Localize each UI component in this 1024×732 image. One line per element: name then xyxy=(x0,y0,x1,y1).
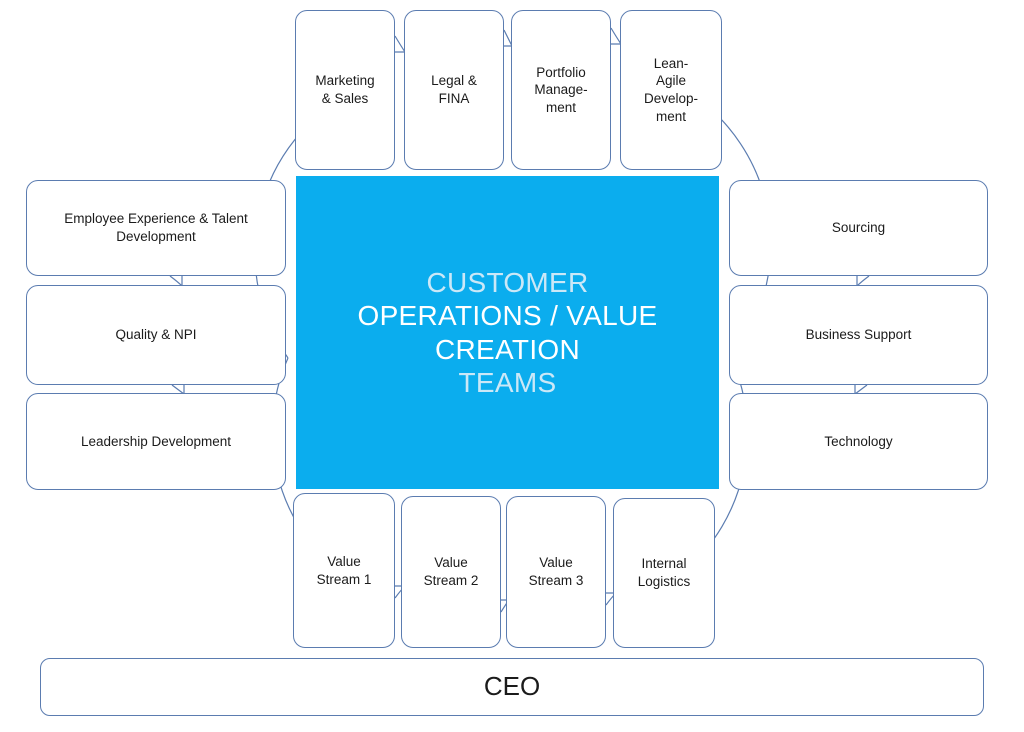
node-quality-and-npi[interactable]: Quality & NPI xyxy=(26,285,286,385)
node-value-stream-2[interactable]: Value Stream 2 xyxy=(401,496,501,648)
node-label: Employee Experience & Talent Development xyxy=(58,210,254,245)
node-label: Quality & NPI xyxy=(109,326,202,344)
diagram-canvas: CUSTOMER OPERATIONS / VALUE CREATION TEA… xyxy=(0,0,1024,732)
node-leadership-development[interactable]: Leadership Development xyxy=(26,393,286,490)
node-label: Internal Logistics xyxy=(632,555,697,590)
center-line-4: TEAMS xyxy=(459,366,557,399)
center-line-1: CUSTOMER xyxy=(426,266,588,299)
node-sourcing[interactable]: Sourcing xyxy=(729,180,988,276)
node-ceo[interactable]: CEO xyxy=(40,658,984,716)
node-label: Portfolio Manage- ment xyxy=(528,64,593,117)
node-label: Technology xyxy=(818,433,898,451)
node-value-stream-1[interactable]: Value Stream 1 xyxy=(293,493,395,648)
node-label: Business Support xyxy=(800,326,918,344)
node-label: Marketing & Sales xyxy=(309,72,380,107)
center-line-2: OPERATIONS / VALUE xyxy=(358,299,658,332)
node-technology[interactable]: Technology xyxy=(729,393,988,490)
node-label: Value Stream 2 xyxy=(418,554,485,589)
node-marketing-and-sales[interactable]: Marketing & Sales xyxy=(295,10,395,170)
center-block: CUSTOMER OPERATIONS / VALUE CREATION TEA… xyxy=(296,176,719,489)
node-internal-logistics[interactable]: Internal Logistics xyxy=(613,498,715,648)
node-label: Leadership Development xyxy=(75,433,237,451)
node-label: CEO xyxy=(478,670,546,704)
node-business-support[interactable]: Business Support xyxy=(729,285,988,385)
node-portfolio-management[interactable]: Portfolio Manage- ment xyxy=(511,10,611,170)
node-label: Sourcing xyxy=(826,219,891,237)
node-label: Legal & FINA xyxy=(425,72,483,107)
node-label: Value Stream 3 xyxy=(523,554,590,589)
node-lean-agile-development[interactable]: Lean- Agile Develop- ment xyxy=(620,10,722,170)
node-label: Value Stream 1 xyxy=(311,553,378,588)
center-line-3: CREATION xyxy=(435,333,580,366)
node-legal-and-fina[interactable]: Legal & FINA xyxy=(404,10,504,170)
node-employee-experience-talent-development[interactable]: Employee Experience & Talent Development xyxy=(26,180,286,276)
node-label: Lean- Agile Develop- ment xyxy=(638,55,704,125)
node-value-stream-3[interactable]: Value Stream 3 xyxy=(506,496,606,648)
